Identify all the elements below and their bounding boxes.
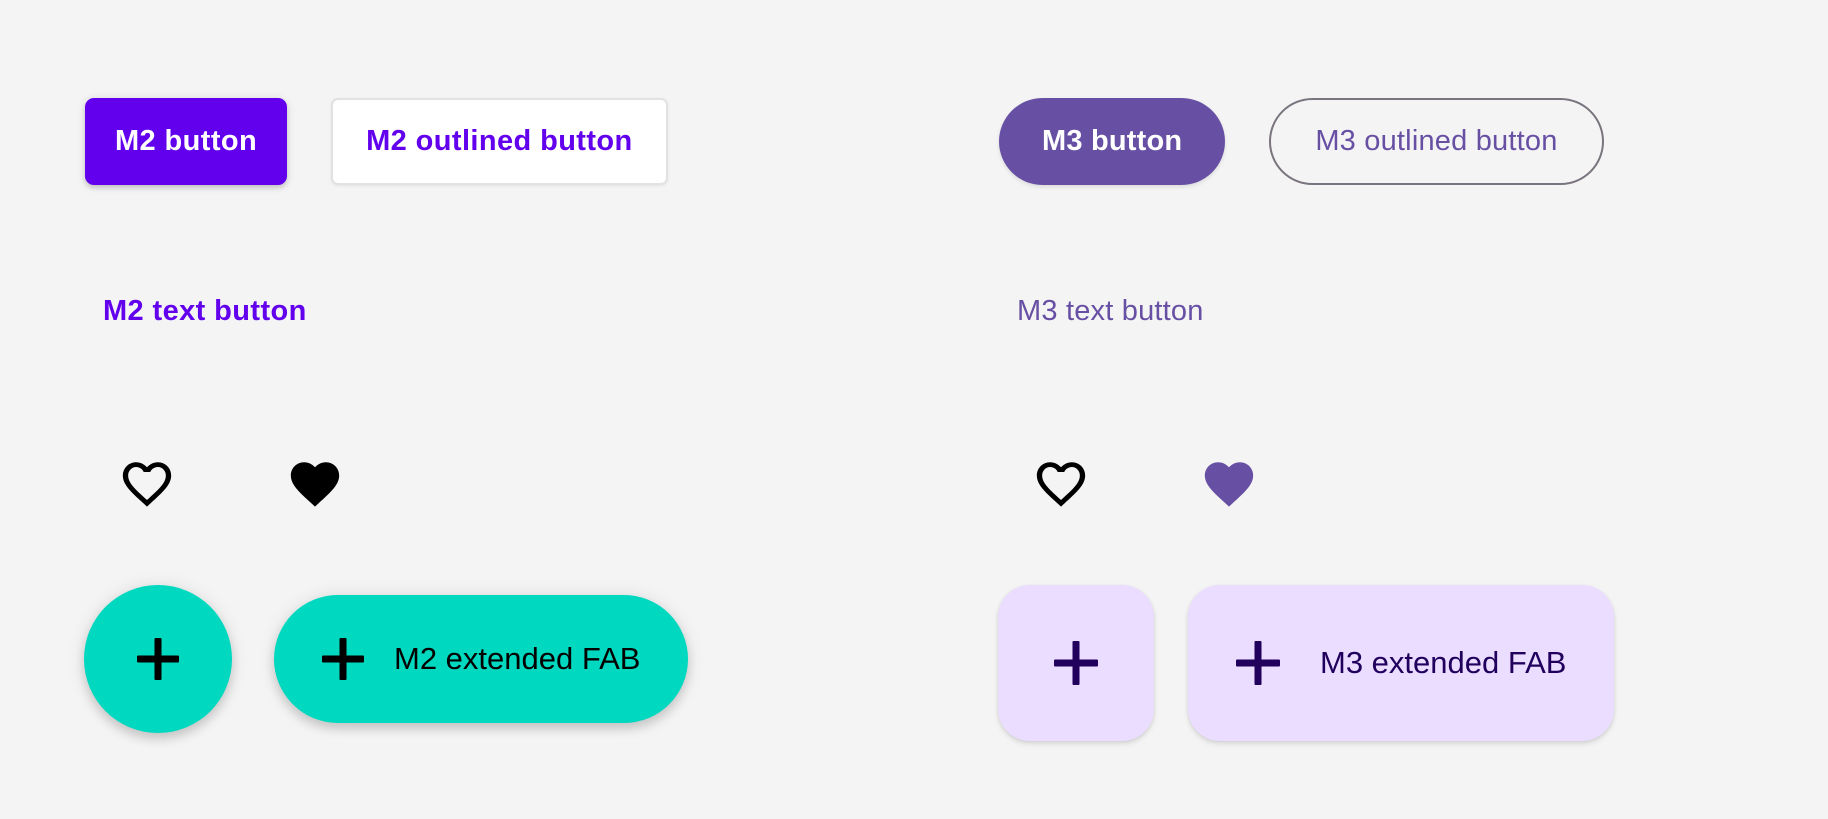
m3-text-button[interactable]: M3 text button [1017, 295, 1204, 328]
m3-heart-outline-button[interactable] [1032, 455, 1090, 513]
heart-filled-icon [1200, 455, 1258, 513]
m2-button-row: M2 button M2 outlined button [85, 98, 668, 185]
m3-column: M3 button M3 outlined button M3 text but… [914, 0, 1828, 819]
m3-heart-filled-button[interactable] [1200, 455, 1258, 513]
m2-extended-fab[interactable]: M2 extended FAB [274, 595, 688, 723]
m2-extended-fab-label: M2 extended FAB [394, 641, 640, 677]
heart-outline-icon [118, 455, 176, 513]
m2-heart-outline-button[interactable] [118, 455, 176, 513]
m2-column: M2 button M2 outlined button M2 text but… [0, 0, 914, 819]
m2-icon-row [118, 455, 344, 513]
m3-fab-row: M3 extended FAB [998, 585, 1614, 741]
m2-filled-button[interactable]: M2 button [85, 98, 287, 185]
m3-filled-button[interactable]: M3 button [999, 98, 1225, 185]
m3-text-button-row: M3 text button [1017, 295, 1204, 328]
m3-extended-fab-label: M3 extended FAB [1320, 645, 1566, 681]
m3-extended-fab[interactable]: M3 extended FAB [1188, 585, 1614, 741]
m3-fab[interactable] [998, 585, 1154, 741]
plus-icon [1054, 641, 1098, 685]
heart-outline-icon [1032, 455, 1090, 513]
comparison-stage: M2 button M2 outlined button M2 text but… [0, 0, 1828, 819]
plus-icon [322, 638, 364, 680]
m3-button-row: M3 button M3 outlined button [999, 98, 1604, 185]
heart-filled-icon [286, 455, 344, 513]
m3-outlined-button[interactable]: M3 outlined button [1269, 98, 1603, 185]
m2-outlined-button[interactable]: M2 outlined button [331, 98, 668, 185]
plus-icon [137, 638, 179, 680]
m3-icon-row [1032, 455, 1258, 513]
m2-text-button[interactable]: M2 text button [103, 295, 307, 328]
m2-heart-filled-button[interactable] [286, 455, 344, 513]
m2-fab[interactable] [84, 585, 232, 733]
m2-fab-row: M2 extended FAB [84, 585, 688, 733]
plus-icon [1236, 641, 1280, 685]
m2-text-button-row: M2 text button [103, 295, 307, 328]
